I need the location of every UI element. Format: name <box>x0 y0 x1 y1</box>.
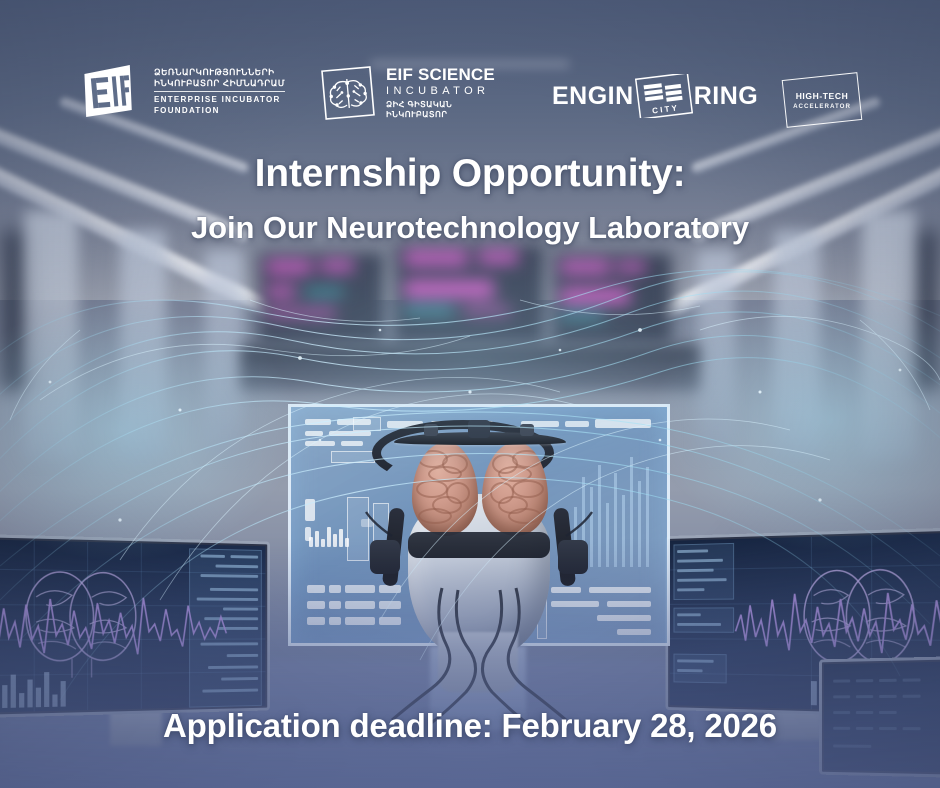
engineering-word-left: ENGIN <box>552 83 634 109</box>
brain-scan-hologram <box>26 572 136 679</box>
background-monitor-magenta <box>394 244 544 344</box>
eif-armenian-line-1: ՁԵՌՆԱՐԿՈՒԹՅՈՒՆՆԵՐԻ <box>154 67 285 77</box>
high-tech-line-1: HIGH-TECH <box>796 91 849 101</box>
page-title: Internship Opportunity: <box>0 152 940 196</box>
logo-engineering-city[interactable]: ENGIN CITY <box>552 74 738 118</box>
application-deadline: Application deadline: February 28, 2026 <box>0 707 940 745</box>
background-desk <box>240 345 700 391</box>
background-column <box>697 250 735 455</box>
eif-monogram-icon <box>80 64 136 118</box>
eif-english-line-2: FOUNDATION <box>154 106 285 116</box>
brain-circuit-icon <box>320 66 376 120</box>
background-column <box>862 210 916 460</box>
science-incubator-subtitle: INCUBATOR <box>386 85 510 97</box>
partner-logo-row: ՁԵՌՆԱՐԿՈՒԹՅՈՒՆՆԵՐԻ ԻՆԿՈՒԲԱՏՈՐ ՀԻՄՆԱԴՐԱՄ … <box>0 28 940 104</box>
eeg-head-model <box>372 420 586 670</box>
headset-side-wires <box>366 512 592 536</box>
background-monitor-magenta <box>552 252 672 344</box>
logo-rule <box>154 91 285 92</box>
background-column <box>205 250 243 455</box>
eif-armenian-line-2: ԻՆԿՈՒԲԱՏՈՐ ՀԻՄՆԱԴՐԱՄ <box>154 78 285 88</box>
high-tech-line-2: ACCELERATOR <box>793 103 851 110</box>
logo-high-tech-accelerator[interactable]: HIGH-TECH ACCELERATOR <box>784 76 860 124</box>
logo-enterprise-incubator-foundation[interactable]: ՁԵՌՆԱՐԿՈՒԹՅՈՒՆՆԵՐԻ ԻՆԿՈՒԲԱՏՈՐ ՀԻՄՆԱԴՐԱՄ … <box>80 62 275 120</box>
page-subtitle: Join Our Neurotechnology Laboratory <box>0 210 940 246</box>
logo-eif-science-incubator[interactable]: EIF SCIENCE INCUBATOR ՁԻՀ ԳԻՏԱԿԱՆ ԻՆԿՈՒԲ… <box>320 64 510 122</box>
engineering-word-right: RING <box>694 83 759 109</box>
science-incubator-title: EIF SCIENCE <box>386 66 510 84</box>
background-column <box>120 230 166 460</box>
background-monitor-magenta <box>258 252 384 344</box>
science-incubator-armenian: ՁԻՀ ԳԻՏԱԿԱՆ ԻՆԿՈՒԲԱՏՈՐ <box>386 100 510 120</box>
poster-canvas: ՁԵՌՆԱՐԿՈՒԹՅՈՒՆՆԵՐԻ ԻՆԿՈՒԲԱՏՈՐ ՀԻՄՆԱԴՐԱՄ … <box>0 0 940 788</box>
building-blocks-icon: CITY <box>635 74 693 118</box>
left-eeg-monitor <box>0 534 270 718</box>
background-column <box>774 230 820 460</box>
svg-text:CITY: CITY <box>651 103 679 115</box>
eeg-waveform <box>0 597 226 656</box>
eif-english-line-1: ENTERPRISE INCUBATOR <box>154 95 285 105</box>
background-column <box>24 210 78 460</box>
